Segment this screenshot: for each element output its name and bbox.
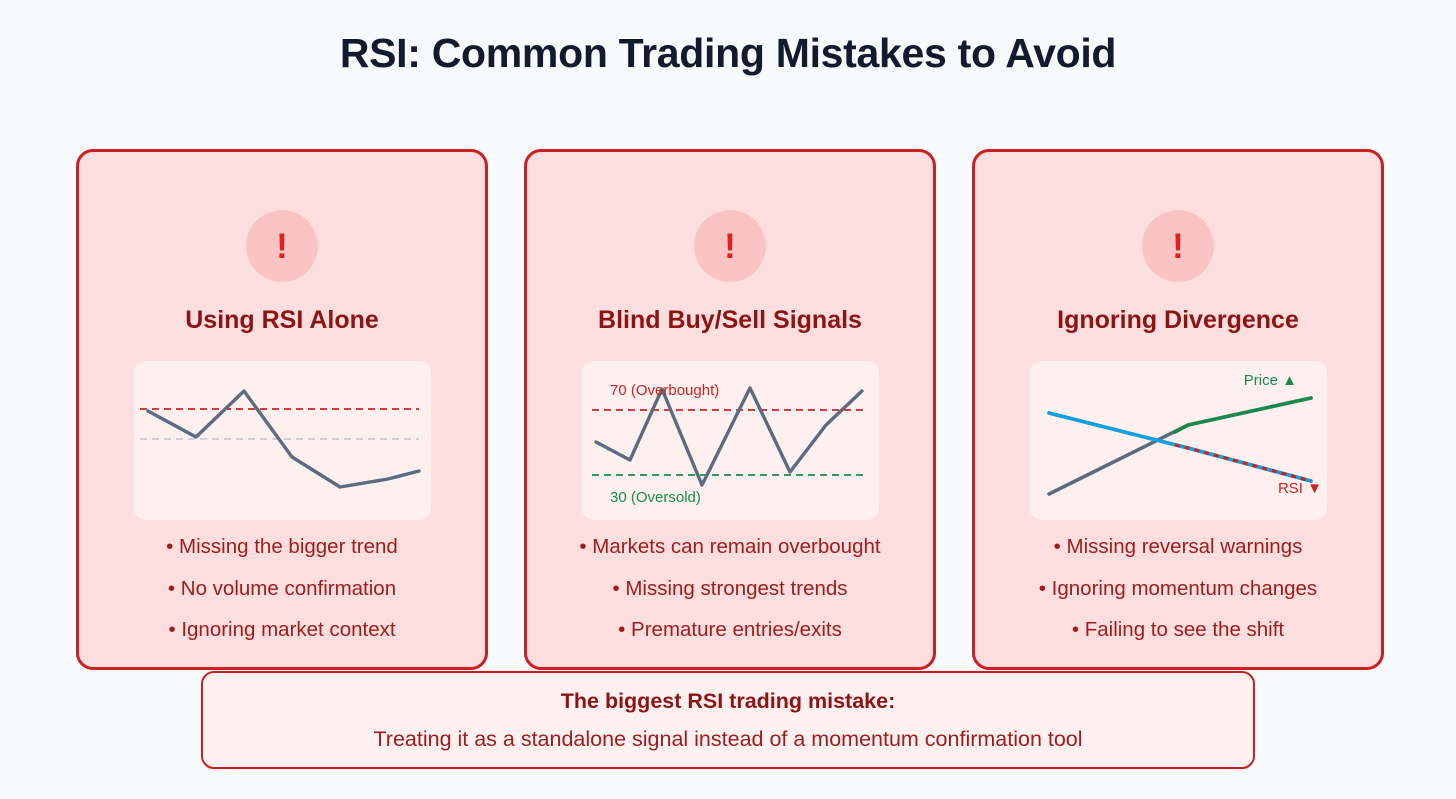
rsi-alone-chart [128,355,437,526]
banner-subtitle: Treating it as a standalone signal inste… [373,727,1082,752]
list-item: • Ignoring momentum changes [1039,579,1317,600]
list-item: • No volume confirmation [168,579,396,600]
list-item: • Missing reversal warnings [1054,537,1303,558]
list-item: • Missing strongest trends [612,579,847,600]
card-bullet-list: • Markets can remain overbought • Missin… [527,537,933,641]
divergence-chart: Price ▲ RSI ▼ [1024,355,1333,526]
warning-icon: ! [1142,210,1214,282]
card-heading: Using RSI Alone [185,306,379,335]
list-item: • Premature entries/exits [618,620,842,641]
card-heading: Ignoring Divergence [1057,306,1299,335]
rsi-line [596,388,862,485]
cards-row: ! Using RSI Alone • Missing the bigger t… [76,149,1384,670]
exclamation-glyph: ! [276,229,288,264]
page-title: RSI: Common Trading Mistakes to Avoid [0,30,1456,77]
price-line [1175,398,1311,432]
warning-icon: ! [246,210,318,282]
mistake-card-using-rsi-alone[interactable]: ! Using RSI Alone • Missing the bigger t… [76,149,488,670]
price-series-label: Price ▲ [1243,372,1296,389]
list-item: • Markets can remain overbought [579,537,880,558]
divergence-chart-panel: Price ▲ RSI ▼ [1030,361,1327,520]
card-bullet-list: • Missing reversal warnings • Ignoring m… [975,537,1381,641]
overbought-label: 70 (Overbought) [610,382,719,399]
exclamation-glyph: ! [724,229,736,264]
rsi-alone-chart-panel [134,361,431,520]
list-item: • Missing the bigger trend [166,537,398,558]
oversold-label: 30 (Oversold) [610,489,701,506]
mistake-card-blind-buy-sell-signals[interactable]: ! Blind Buy/Sell Signals 70 (Overbought)… [524,149,936,670]
list-item: • Failing to see the shift [1072,620,1284,641]
list-item: • Ignoring market context [168,620,395,641]
mistake-card-ignoring-divergence[interactable]: ! Ignoring Divergence Price ▲ RSI ▼ • M [972,149,1384,670]
summary-banner: The biggest RSI trading mistake: Treatin… [201,671,1255,769]
card-heading: Blind Buy/Sell Signals [598,306,862,335]
exclamation-glyph: ! [1172,229,1184,264]
blind-signals-chart: 70 (Overbought) 30 (Oversold) [576,355,885,526]
warning-icon: ! [694,210,766,282]
card-bullet-list: • Missing the bigger trend • No volume c… [79,537,485,641]
blind-signals-chart-panel: 70 (Overbought) 30 (Oversold) [582,361,879,520]
rsi-series-label: RSI ▼ [1277,480,1321,497]
banner-title: The biggest RSI trading mistake: [561,689,896,714]
